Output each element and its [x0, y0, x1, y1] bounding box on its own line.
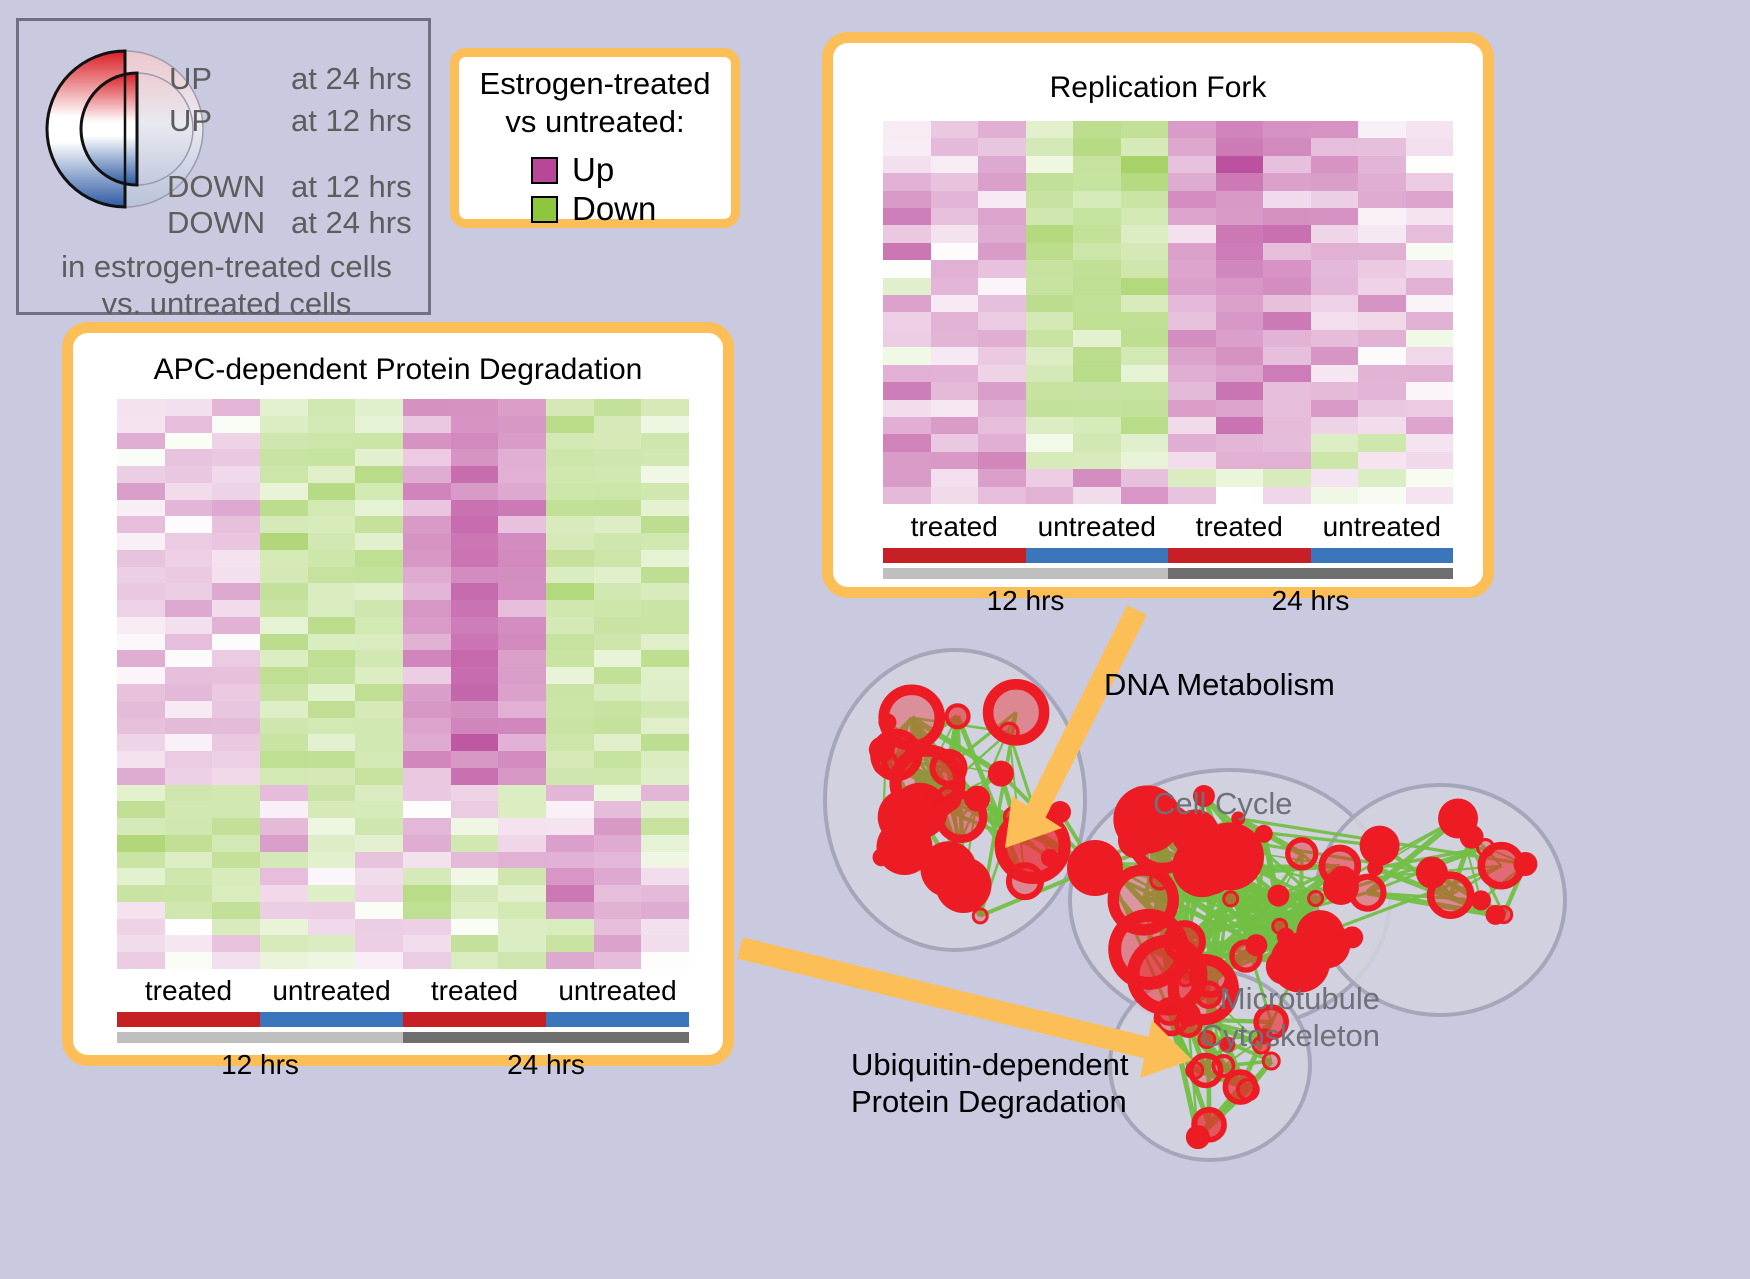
network-node[interactable]	[1309, 891, 1323, 905]
heatmap-cell	[260, 466, 308, 483]
heatmap-cell	[1311, 469, 1359, 486]
up-swatch-icon	[531, 157, 558, 184]
legend-time-12: at 12 hrs	[291, 103, 412, 139]
heatmap-cell	[1121, 382, 1169, 399]
heatmap-cell	[260, 550, 308, 567]
heatmap-cell	[1263, 260, 1311, 277]
heatmap-cell	[355, 650, 403, 667]
timepoint-label: 12 hrs	[117, 1049, 403, 1081]
heatmap-cell	[546, 885, 594, 902]
heatmap-cell	[931, 365, 979, 382]
heatmap-cell	[498, 466, 546, 483]
heatmap-cell	[1263, 173, 1311, 190]
column-group-label: treated	[403, 975, 546, 1007]
heatmap-cell	[451, 734, 499, 751]
heatmap-cell	[355, 567, 403, 584]
heatmap-cell	[546, 600, 594, 617]
heatmap-cell	[260, 885, 308, 902]
heatmap-cell	[117, 885, 165, 902]
heatmap-cell	[117, 667, 165, 684]
heatmap-cell	[1073, 121, 1121, 138]
heatmap-cell	[931, 382, 979, 399]
heatmap-cell	[355, 902, 403, 919]
heatmap-cell	[308, 667, 356, 684]
heatmap-cell	[594, 818, 642, 835]
heatmap-cell	[260, 483, 308, 500]
network-node[interactable]	[1513, 852, 1537, 876]
heatmap-cell	[641, 701, 689, 718]
replication-timepoint-labels: 12 hrs24 hrs	[883, 585, 1453, 617]
heatmap-cell	[260, 785, 308, 802]
heatmap-cell	[165, 466, 213, 483]
heatmap-cell	[117, 852, 165, 869]
heatmap-cell	[546, 583, 594, 600]
heatmap-cell	[641, 734, 689, 751]
heatmap-cell	[1121, 243, 1169, 260]
heatmap-cell	[165, 583, 213, 600]
heatmap-cell	[260, 634, 308, 651]
heatmap-cell	[594, 718, 642, 735]
heatmap-cell	[260, 600, 308, 617]
heatmap-cell	[1168, 121, 1216, 138]
heatmap-cell	[498, 701, 546, 718]
heatmap-cell	[1216, 191, 1264, 208]
heatmap-cell	[883, 121, 931, 138]
heatmap-cell	[451, 902, 499, 919]
network-node[interactable]	[1288, 840, 1316, 868]
heatmap-cell	[403, 768, 451, 785]
heatmap-cell	[498, 634, 546, 651]
network-node[interactable]	[1225, 1072, 1255, 1102]
heatmap-cell	[1026, 330, 1074, 347]
network-node[interactable]	[1331, 868, 1355, 892]
heatmap-cell	[546, 902, 594, 919]
heatmap-cell	[1263, 243, 1311, 260]
heatmap-cell	[308, 818, 356, 835]
heatmap-cell	[1358, 208, 1406, 225]
heatmap-cell	[1168, 225, 1216, 242]
heatmap-cell	[355, 835, 403, 852]
heatmap-cell	[1263, 347, 1311, 364]
heatmap-cell	[451, 650, 499, 667]
heatmap-cell	[931, 417, 979, 434]
heatmap-cell	[355, 885, 403, 902]
heatmap-cell	[403, 516, 451, 533]
heatmap-cell	[165, 650, 213, 667]
heatmap-cell	[641, 684, 689, 701]
heatmap-cell	[308, 533, 356, 550]
heatmap-cell	[546, 751, 594, 768]
heatmap-cell	[212, 751, 260, 768]
heatmap-cell	[1168, 487, 1216, 504]
heatmap-replication-fork	[883, 121, 1453, 504]
heatmap-cell	[403, 935, 451, 952]
heatmap-cell	[355, 600, 403, 617]
network-node[interactable]	[1000, 723, 1018, 741]
heatmap-cell	[641, 617, 689, 634]
heatmap-cell	[1073, 400, 1121, 417]
heatmap-cell	[212, 634, 260, 651]
heatmap-cell	[403, 902, 451, 919]
heatmap-cell	[931, 330, 979, 347]
network-node[interactable]	[1224, 892, 1238, 906]
heatmap-cell	[641, 550, 689, 567]
heatmap-cell	[498, 533, 546, 550]
heatmap-cell	[641, 801, 689, 818]
timepoint-bar-segment	[883, 568, 1168, 579]
heatmap-cell	[1121, 208, 1169, 225]
heatmap-cell	[1263, 191, 1311, 208]
heatmap-cell	[546, 684, 594, 701]
heatmap-cell	[403, 449, 451, 466]
network-node[interactable]	[878, 713, 896, 731]
heatmap-cell	[260, 650, 308, 667]
heatmap-cell	[1026, 487, 1074, 504]
heatmap-cell	[1406, 487, 1454, 504]
heatmap-cell	[117, 533, 165, 550]
heatmap-cell	[1263, 434, 1311, 451]
heatmap-cell	[355, 399, 403, 416]
heatmap-cell	[403, 718, 451, 735]
heatmap-cell	[641, 533, 689, 550]
heatmap-cell	[978, 208, 1026, 225]
heatmap-cell	[451, 701, 499, 718]
heatmap-cell	[498, 868, 546, 885]
heatmap-cell	[1121, 365, 1169, 382]
heatmap-cell	[165, 902, 213, 919]
heatmap-cell	[1026, 400, 1074, 417]
treatment-bar-segment	[1026, 548, 1169, 563]
panel-apc-protein-degradation: APC-dependent Protein Degradation treate…	[62, 322, 734, 1066]
heatmap-cell	[117, 600, 165, 617]
heatmap-cell	[308, 852, 356, 869]
heatmap-cell	[1358, 400, 1406, 417]
heatmap-cell	[594, 667, 642, 684]
heatmap-cell	[260, 852, 308, 869]
heatmap-cell	[308, 449, 356, 466]
heatmap-cell	[212, 734, 260, 751]
heatmap-cell	[641, 868, 689, 885]
heatmap-cell	[1358, 138, 1406, 155]
heatmap-cell	[212, 466, 260, 483]
heatmap-cell	[883, 243, 931, 260]
heatmap-cell	[117, 701, 165, 718]
heatmap-cell	[978, 434, 1026, 451]
heatmap-cell	[1216, 487, 1264, 504]
network-node[interactable]	[1009, 865, 1041, 897]
legend-caption-line2: vs. untreated cells	[19, 286, 434, 323]
heatmap-cell	[498, 583, 546, 600]
heatmap-cell	[1026, 278, 1074, 295]
heatmap-cell	[1168, 382, 1216, 399]
network-node[interactable]	[878, 789, 934, 845]
heatmap-cell	[1311, 173, 1359, 190]
heatmap-cell	[1026, 121, 1074, 138]
heatmap-cell	[1406, 452, 1454, 469]
heatmap-cell	[451, 751, 499, 768]
network-node[interactable]	[1471, 890, 1491, 910]
heatmap-cell	[1216, 156, 1264, 173]
heatmap-cell	[451, 449, 499, 466]
heatmap-cell	[1406, 208, 1454, 225]
network-node[interactable]	[869, 737, 895, 763]
heatmap-cell	[1406, 434, 1454, 451]
heatmap-cell	[1406, 347, 1454, 364]
heatmap-cell	[498, 399, 546, 416]
heatmap-apc-protein-degradation	[117, 399, 689, 969]
network-node[interactable]	[1367, 860, 1383, 876]
heatmap-cell	[1168, 173, 1216, 190]
heatmap-cell	[931, 225, 979, 242]
heatmap-cell	[1168, 295, 1216, 312]
heatmap-cell	[117, 550, 165, 567]
network-node[interactable]	[1360, 826, 1400, 866]
network-node[interactable]	[1186, 1125, 1210, 1149]
timepoint-label: 24 hrs	[1168, 585, 1453, 617]
heatmap-cell	[594, 919, 642, 936]
heatmap-cell	[594, 801, 642, 818]
heatmap-cell	[641, 902, 689, 919]
heatmap-cell	[498, 449, 546, 466]
heatmap-cell	[1406, 173, 1454, 190]
heatmap-cell	[883, 417, 931, 434]
heatmap-cell	[1406, 191, 1454, 208]
heatmap-cell	[978, 487, 1026, 504]
heatmap-cell	[1311, 365, 1359, 382]
heatmap-cell	[212, 885, 260, 902]
heatmap-cell	[451, 919, 499, 936]
heatmap-cell	[451, 583, 499, 600]
network-node[interactable]	[988, 761, 1014, 787]
heatmap-cell	[355, 868, 403, 885]
heatmap-cell	[641, 952, 689, 969]
heatmap-cell	[1263, 469, 1311, 486]
heatmap-cell	[403, 567, 451, 584]
heatmap-cell	[212, 500, 260, 517]
network-node[interactable]	[1213, 1056, 1233, 1076]
heatmap-cell	[117, 433, 165, 450]
heatmap-cell	[1073, 417, 1121, 434]
heatmap-cell	[165, 868, 213, 885]
heatmap-cell	[451, 835, 499, 852]
column-group-label: untreated	[546, 975, 689, 1007]
legend-down-label: Down	[572, 190, 656, 228]
network-node[interactable]	[1067, 840, 1123, 896]
heatmap-cell	[1358, 417, 1406, 434]
heatmap-cell	[883, 260, 931, 277]
heatmap-cell	[308, 634, 356, 651]
heatmap-cell	[641, 500, 689, 517]
heatmap-cell	[1121, 400, 1169, 417]
heatmap-cell	[641, 885, 689, 902]
heatmap-cell	[594, 868, 642, 885]
heatmap-cell	[165, 483, 213, 500]
network-node[interactable]	[1302, 921, 1350, 969]
heatmap-cell	[1263, 121, 1311, 138]
expression-direction-legend: UP at 24 hrs UP at 12 hrs DOWN at 12 hrs…	[16, 18, 431, 315]
heatmap-cell	[498, 818, 546, 835]
heatmap-cell	[212, 667, 260, 684]
treatment-bar-segment	[117, 1012, 260, 1027]
column-group-label: treated	[1168, 511, 1311, 543]
heatmap-cell	[546, 500, 594, 517]
heatmap-cell	[978, 330, 1026, 347]
heatmap-cell	[355, 768, 403, 785]
heatmap-cell	[1311, 382, 1359, 399]
heatmap-cell	[1073, 365, 1121, 382]
heatmap-cell	[1263, 208, 1311, 225]
network-node[interactable]	[1277, 928, 1295, 946]
heatmap-cell	[308, 516, 356, 533]
heatmap-cell	[117, 734, 165, 751]
heatmap-cell	[1406, 260, 1454, 277]
heatmap-cell	[308, 466, 356, 483]
network-node[interactable]	[935, 857, 991, 913]
heatmap-cell	[498, 902, 546, 919]
heatmap-cell	[165, 835, 213, 852]
heatmap-cell	[1216, 469, 1264, 486]
network-node[interactable]	[1232, 942, 1260, 970]
heatmap-cell	[403, 500, 451, 517]
heatmap-cell	[1406, 365, 1454, 382]
heatmap-cell	[1073, 225, 1121, 242]
network-node[interactable]	[1460, 825, 1484, 849]
heatmap-cell	[1406, 295, 1454, 312]
heatmap-cell	[260, 500, 308, 517]
network-node[interactable]	[1267, 885, 1289, 907]
heatmap-cell	[308, 701, 356, 718]
network-node[interactable]	[1486, 905, 1506, 925]
heatmap-cell	[165, 785, 213, 802]
heatmap-cell	[641, 433, 689, 450]
heatmap-cell	[308, 902, 356, 919]
heatmap-cell	[498, 667, 546, 684]
heatmap-cell	[1311, 156, 1359, 173]
heatmap-cell	[1168, 191, 1216, 208]
heatmap-cell	[546, 734, 594, 751]
heatmap-cell	[451, 885, 499, 902]
heatmap-cell	[1406, 469, 1454, 486]
heatmap-cell	[594, 600, 642, 617]
heatmap-cell	[165, 801, 213, 818]
heatmap-cell	[308, 399, 356, 416]
heatmap-cell	[1263, 382, 1311, 399]
heatmap-cell	[594, 516, 642, 533]
heatmap-cell	[1406, 138, 1454, 155]
heatmap-cell	[403, 919, 451, 936]
network-node[interactable]	[1166, 924, 1202, 960]
heatmap-cell	[308, 751, 356, 768]
heatmap-cell	[546, 533, 594, 550]
heatmap-cell	[117, 416, 165, 433]
network-node[interactable]	[1049, 801, 1071, 823]
heatmap-cell	[1406, 417, 1454, 434]
heatmap-cell	[594, 550, 642, 567]
heatmap-cell	[594, 567, 642, 584]
heatmap-cell	[117, 516, 165, 533]
heatmap-cell	[931, 173, 979, 190]
network-node[interactable]	[873, 848, 891, 866]
heatmap-cell	[546, 667, 594, 684]
heatmap-cell	[498, 952, 546, 969]
heatmap-cell	[546, 818, 594, 835]
heatmap-cell	[641, 399, 689, 416]
heatmap-cell	[355, 701, 403, 718]
network-node[interactable]	[973, 909, 987, 923]
heatmap-cell	[308, 650, 356, 667]
heatmap-cell	[355, 718, 403, 735]
heatmap-cell	[1406, 382, 1454, 399]
heatmap-cell	[165, 500, 213, 517]
heatmap-cell	[978, 347, 1026, 364]
heatmap-cell	[403, 684, 451, 701]
heatmap-cell	[978, 295, 1026, 312]
heatmap-cell	[212, 600, 260, 617]
heatmap-cell	[931, 191, 979, 208]
down-swatch-icon	[531, 196, 558, 223]
heatmap-cell	[308, 617, 356, 634]
network-node[interactable]	[1431, 875, 1471, 915]
network-node[interactable]	[947, 705, 969, 727]
figure-canvas: DNA Metabolism Cell Cycle Microtubule Cy…	[0, 0, 1750, 1279]
heatmap-cell	[1263, 225, 1311, 242]
heatmap-cell	[1358, 191, 1406, 208]
heatmap-cell	[212, 801, 260, 818]
heatmap-cell	[165, 885, 213, 902]
heatmap-cell	[117, 684, 165, 701]
heatmap-cell	[355, 433, 403, 450]
heatmap-cell	[308, 768, 356, 785]
heatmap-cell	[883, 400, 931, 417]
heatmap-cell	[1358, 156, 1406, 173]
replication-column-group-labels: treateduntreatedtreateduntreated	[883, 511, 1453, 543]
heatmap-cell	[1121, 330, 1169, 347]
heatmap-cell	[1073, 434, 1121, 451]
heatmap-cell	[1311, 121, 1359, 138]
heatmap-cell	[355, 634, 403, 651]
heatmap-cell	[1073, 243, 1121, 260]
heatmap-cell	[1168, 365, 1216, 382]
heatmap-cell	[1026, 312, 1074, 329]
heatmap-cell	[403, 885, 451, 902]
heatmap-cell	[931, 156, 979, 173]
heatmap-cell	[641, 919, 689, 936]
heatmap-cell	[931, 278, 979, 295]
heatmap-cell	[546, 801, 594, 818]
heatmap-cell	[1216, 330, 1264, 347]
heatmap-cell	[1168, 208, 1216, 225]
heatmap-cell	[641, 667, 689, 684]
heatmap-cell	[883, 138, 931, 155]
network-node[interactable]	[1255, 825, 1273, 843]
heatmap-cell	[883, 330, 931, 347]
heatmap-cell	[1216, 434, 1264, 451]
heatmap-cell	[883, 365, 931, 382]
timepoint-bar-segment	[1168, 568, 1453, 579]
heatmap-cell	[978, 382, 1026, 399]
heatmap-cell	[1263, 278, 1311, 295]
heatmap-cell	[403, 852, 451, 869]
network-node[interactable]	[1263, 1053, 1279, 1069]
heatmap-cell	[883, 347, 931, 364]
heatmap-cell	[117, 617, 165, 634]
heatmap-cell	[212, 818, 260, 835]
heatmap-cell	[641, 416, 689, 433]
heatmap-cell	[1311, 208, 1359, 225]
heatmap-cell	[1168, 138, 1216, 155]
heatmap-cell	[355, 751, 403, 768]
heatmap-cell	[1263, 138, 1311, 155]
